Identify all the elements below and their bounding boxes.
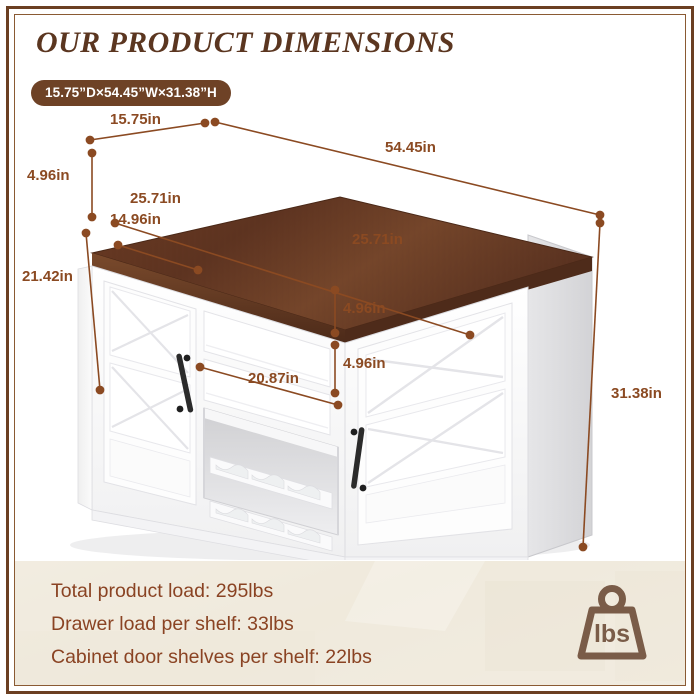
page-title: OUR PRODUCT DIMENSIONS xyxy=(36,26,455,60)
weight-lbs-icon: lbs xyxy=(573,583,651,663)
dim-label-depth-top: 15.75in xyxy=(110,111,161,128)
lbs-icon-text: lbs xyxy=(594,620,630,648)
dim-label-front-drawer: 25.71in xyxy=(352,231,403,248)
dim-label-door-width: 14.96in xyxy=(110,211,161,228)
dim-label-drawer-height-1: 4.96in xyxy=(343,300,386,317)
info-line-drawer-load: Drawer load per shelf: 33lbs xyxy=(51,608,372,641)
info-line-total-load: Total product load: 295lbs xyxy=(51,575,372,608)
dim-label-overall-width: 54.45in xyxy=(385,139,436,156)
dim-label-top-thickness: 4.96in xyxy=(27,167,70,184)
dim-label-drawer-width: 25.71in xyxy=(130,190,181,207)
dim-label-drawer-height-2: 4.96in xyxy=(343,355,386,372)
info-line-cabinet-load: Cabinet door shelves per shelf: 22lbs xyxy=(51,641,372,674)
dim-label-overall-height: 31.38in xyxy=(611,385,662,402)
dim-label-open-shelf-width: 20.87in xyxy=(248,370,299,387)
dim-label-cabinet-side: 21.42in xyxy=(22,268,73,285)
dimensions-badge: 15.75”D×54.45”W×31.38”H xyxy=(31,80,231,106)
load-info-panel: Total product load: 295lbs Drawer load p… xyxy=(15,561,685,685)
load-info-lines: Total product load: 295lbs Drawer load p… xyxy=(51,575,372,674)
product-illustration: 15.75in 4.96in 25.71in 14.96in 21.42in 5… xyxy=(0,105,700,560)
product-dimensions-infographic: OUR PRODUCT DIMENSIONS 15.75”D×54.45”W×3… xyxy=(0,0,700,700)
